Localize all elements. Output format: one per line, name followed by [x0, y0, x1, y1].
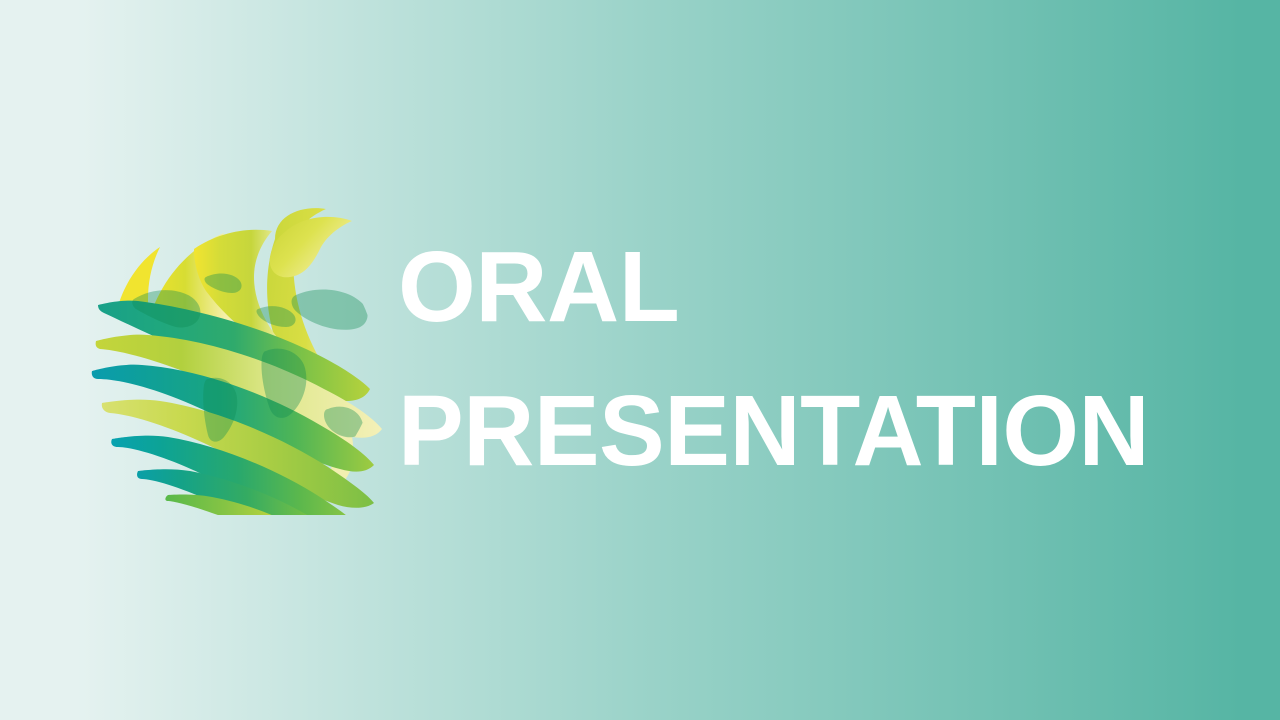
slide-canvas: ORAL PRESENTATION: [0, 0, 1280, 720]
title-line-two: PRESENTATION: [398, 380, 1206, 482]
globe-leaf-icon: [90, 203, 382, 515]
slide-title: ORAL PRESENTATION: [398, 236, 1218, 482]
globe-ribbon-bands: [92, 208, 382, 515]
title-line-one: ORAL: [398, 236, 1218, 338]
globe-leaf-logo: [90, 203, 382, 515]
